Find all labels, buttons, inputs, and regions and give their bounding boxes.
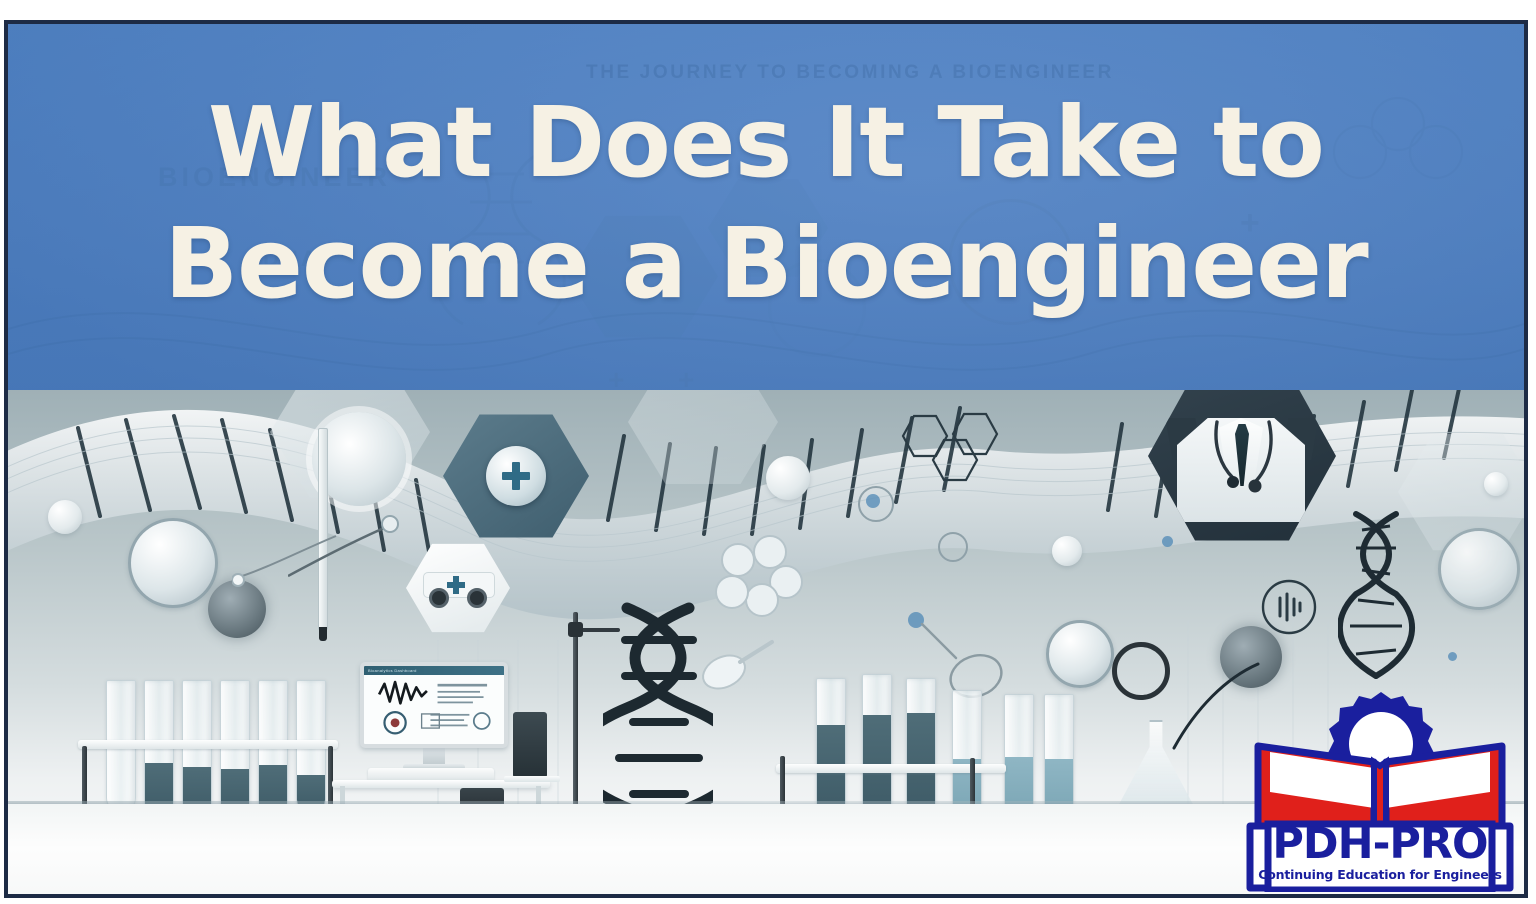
screen-titlebar: Bioanalytics Dashboard — [364, 666, 504, 675]
sphere — [1052, 536, 1082, 566]
title-band: + + + THE JOURNEY TO BECOMING A BIOENGIN… — [8, 24, 1524, 390]
test-tube — [220, 680, 250, 820]
stethoscope-icon — [1193, 420, 1291, 500]
pdh-pro-logo[interactable]: PDH-PRO Continuing Education for Enginee… — [1246, 692, 1514, 892]
title-line-2: Become a Bioengineer — [164, 212, 1368, 317]
title-block: What Does It Take to Become a Bioenginee… — [8, 24, 1524, 390]
probe — [232, 528, 342, 588]
molecule-cluster — [708, 530, 818, 630]
monitor-neck — [423, 748, 445, 764]
test-tube — [258, 680, 288, 820]
rack-top-bar — [78, 740, 338, 749]
mini-dna-helix — [1338, 508, 1416, 708]
sphere — [48, 500, 82, 534]
test-tube — [952, 690, 982, 818]
petri-dish — [128, 518, 218, 608]
scientist-figure — [1167, 390, 1317, 522]
signal-icon — [1260, 578, 1318, 636]
ring-stand-clamp — [568, 622, 583, 637]
test-tube — [182, 680, 212, 820]
test-tube — [144, 680, 174, 820]
small-shelf — [504, 776, 560, 782]
virus-particle — [208, 580, 266, 638]
hex-molecule-diagram — [888, 410, 1006, 498]
desktop-monitor: Bioanalytics Dashboard — [360, 662, 508, 770]
sphere — [1484, 472, 1508, 496]
screen-waveform-chart — [364, 675, 504, 744]
sphere — [766, 456, 810, 500]
reagent-bottle — [513, 712, 547, 778]
nucleus-dot — [1162, 536, 1173, 547]
bioengineer-banner: + + + THE JOURNEY TO BECOMING A BIOENGIN… — [4, 20, 1528, 898]
laboratory-scene: Bioanalytics Dashboard — [8, 390, 1524, 898]
nucleus-dot — [1448, 652, 1457, 661]
petri-dish — [1438, 528, 1520, 610]
logo-main-text: PDH-PRO — [1246, 823, 1514, 866]
medical-cross-icon — [502, 462, 530, 490]
medical-knob — [486, 446, 546, 506]
ambulance-icon — [423, 570, 493, 606]
nucleus-dot — [866, 494, 880, 508]
test-tube — [862, 674, 892, 822]
logo-tagline: Continuing Education for Engineers — [1246, 867, 1514, 882]
title-line-1: What Does It Take to — [208, 91, 1324, 196]
screen-titlebar-text: Bioanalytics Dashboard — [364, 666, 504, 673]
monitor-screen: Bioanalytics Dashboard — [360, 662, 508, 748]
cell-ring — [938, 532, 968, 562]
